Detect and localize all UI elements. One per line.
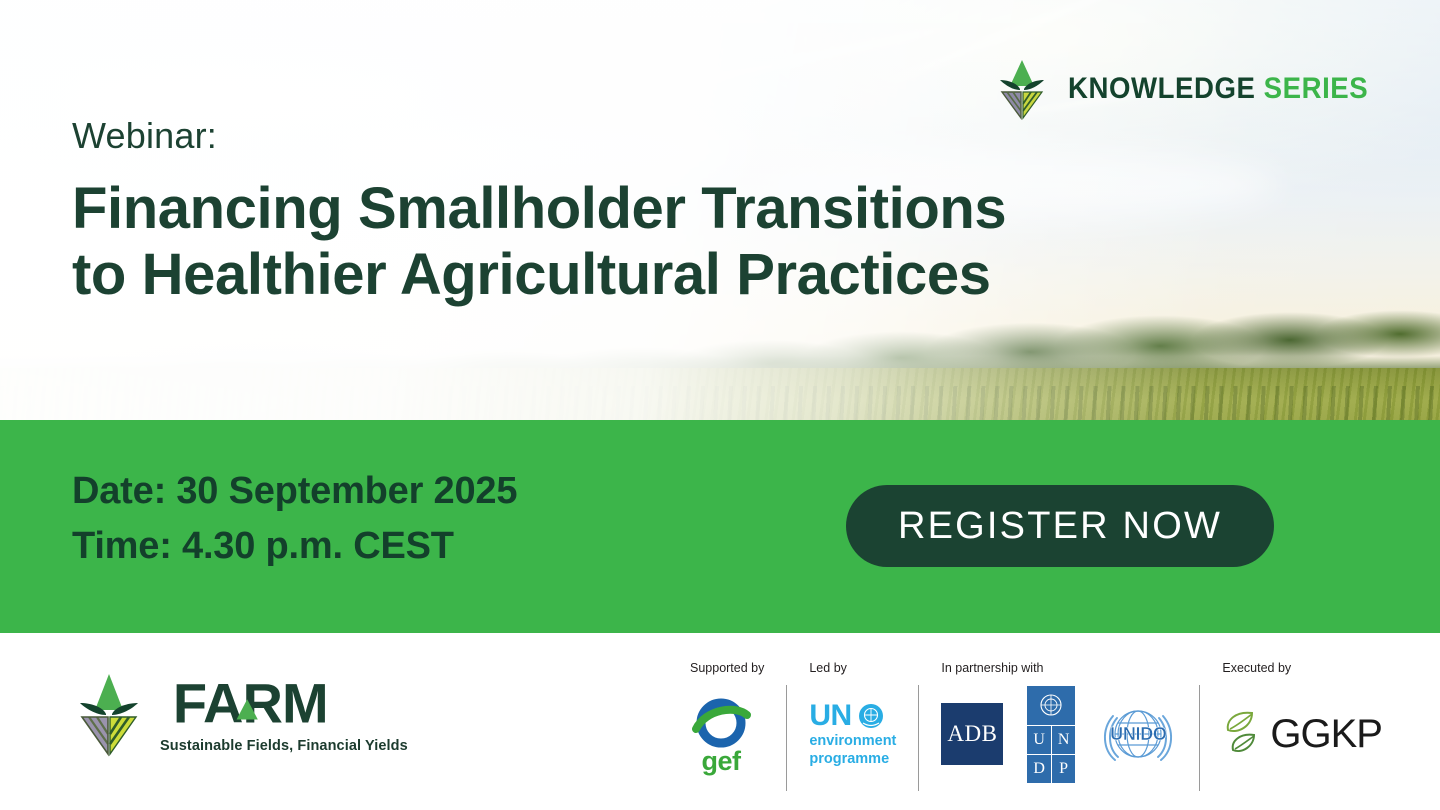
divider [918, 685, 919, 791]
farm-tagline: Sustainable Fields, Financial Yields [160, 738, 408, 754]
un-emblem-icon [858, 703, 884, 729]
divider [1199, 685, 1200, 791]
partner-group-in-partnership-with: In partnership with ADB U N [941, 661, 1177, 787]
farm-sprout-logo-icon [72, 669, 146, 761]
undp-cell-p: P [1052, 755, 1076, 783]
partner-group-supported-by: Supported by gef [690, 661, 764, 787]
gef-wordmark: gef [702, 749, 741, 773]
footer: FARM Sustainable Fields, Financial Yield… [0, 633, 1440, 810]
undp-cell-u: U [1027, 726, 1051, 754]
partner-group-label: In partnership with [941, 661, 1177, 675]
partner-group-executed-by: Executed by GGKP [1222, 661, 1382, 787]
undp-cell-n: N [1052, 726, 1076, 754]
ggkp-logo: GGKP [1222, 707, 1382, 761]
ggkp-wordmark: GGKP [1270, 714, 1382, 754]
farm-sprout-logo-icon [994, 56, 1050, 122]
event-time: Time: 4.30 p.m. CEST [72, 519, 517, 574]
undp-logo: U N D P [1027, 686, 1075, 783]
eyebrow-label: Webinar: [72, 118, 1006, 154]
knowledge-series-text: KNOWLEDGE SERIES [1068, 72, 1368, 106]
farm-logo: FARM Sustainable Fields, Financial Yield… [72, 669, 408, 761]
knowledge-series-lockup: KNOWLEDGE SERIES [994, 56, 1394, 122]
partner-group-led-by: Led by UN environment programme [809, 661, 896, 787]
headline-block: Webinar: Financing Smallholder Transitio… [72, 118, 1006, 307]
page-title: Financing Smallholder Transitions to Hea… [72, 176, 1006, 307]
adb-logo: ADB [941, 703, 1003, 765]
unido-text: UNIDO [1110, 724, 1167, 745]
unep-logo: UN environment programme [809, 701, 896, 767]
ggkp-leaf-icon [1222, 707, 1268, 761]
details-band: Date: 30 September 2025 Time: 4.30 p.m. … [0, 420, 1440, 633]
undp-cell-d: D [1027, 755, 1051, 783]
unep-line2: programme [809, 751, 896, 767]
partner-group-label: Led by [809, 661, 896, 675]
adb-text: ADB [947, 721, 997, 747]
un-emblem-icon [1038, 692, 1064, 718]
partner-group-label: Executed by [1222, 661, 1382, 675]
farm-wordmark: FARM Sustainable Fields, Financial Yield… [160, 677, 408, 754]
partner-logos: Supported by gef Led by UN [690, 661, 1382, 791]
hero-banner: KNOWLEDGE SERIES Webinar: Financing Smal… [0, 0, 1440, 420]
knowledge-word: KNOWLEDGE [1068, 72, 1255, 105]
event-date: Date: 30 September 2025 [72, 464, 517, 519]
title-line-2: to Healthier Agricultural Practices [72, 242, 1006, 308]
gef-globe-icon [690, 695, 752, 753]
unep-un-text: UN [809, 701, 851, 731]
register-now-button[interactable]: REGISTER NOW [846, 485, 1274, 567]
gef-logo: gef [690, 695, 752, 773]
unep-line1: environment [809, 733, 896, 749]
partner-group-label: Supported by [690, 661, 764, 675]
unido-logo: UNIDO [1099, 698, 1177, 770]
svg-text:FARM: FARM [173, 677, 328, 733]
farm-name-text: FARM [160, 677, 408, 733]
event-details: Date: 30 September 2025 Time: 4.30 p.m. … [72, 464, 517, 574]
divider [786, 685, 787, 791]
series-word: SERIES [1263, 72, 1368, 105]
title-line-1: Financing Smallholder Transitions [72, 176, 1006, 242]
